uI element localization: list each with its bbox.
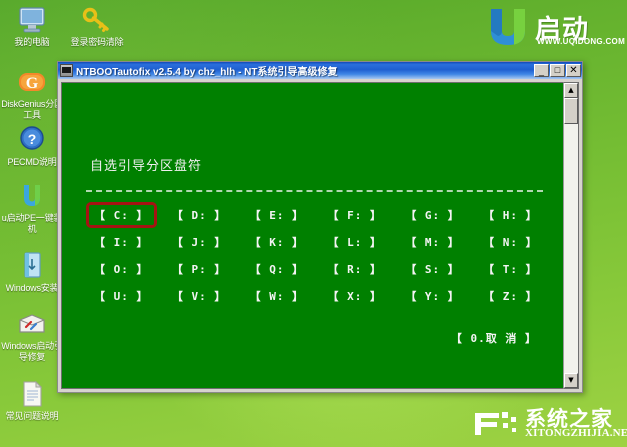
maximize-button[interactable]: □ — [550, 64, 565, 77]
window-body: 自选引导分区盘符 【 C: 】 【 D: 】 【 E: 】 【 F: 】 【 G… — [58, 79, 582, 392]
watermark-url: XITONGZHIJIA.NET — [525, 427, 627, 439]
desktop-icon-pecmd-help[interactable]: ? PECMD说明 — [0, 124, 64, 168]
svg-text:G: G — [26, 75, 39, 92]
drive-option-x[interactable]: 【 X: 】 — [319, 283, 390, 309]
drive-row: 【 C: 】 【 D: 】 【 E: 】 【 F: 】 【 G: 】 【 H: … — [82, 201, 549, 228]
drive-cell: 【 W: 】 — [238, 283, 316, 309]
drive-option-j[interactable]: 【 J: 】 — [164, 229, 235, 255]
drive-row: 【 I: 】 【 J: 】 【 K: 】 【 L: 】 【 M: 】 【 N: … — [82, 228, 549, 255]
drive-row: 【 O: 】 【 P: 】 【 Q: 】 【 R: 】 【 S: 】 【 T: … — [82, 255, 549, 282]
toolbox-icon — [16, 308, 48, 340]
console-heading: 自选引导分区盘符 — [90, 155, 202, 174]
drive-option-m[interactable]: 【 M: 】 — [397, 229, 468, 255]
ntbootautofix-window[interactable]: NTBOOTautofix v2.5.4 by chz_hlh - NT系统引导… — [57, 61, 583, 393]
brand-logo: 启动 WWW.UQIDONG.COM — [481, 3, 621, 51]
drive-option-l[interactable]: 【 L: 】 — [319, 229, 390, 255]
drive-letter-grid: 【 C: 】 【 D: 】 【 E: 】 【 F: 】 【 G: 】 【 H: … — [82, 201, 549, 309]
drive-cell: 【 N: 】 — [471, 229, 549, 255]
drive-cell: 【 X: 】 — [315, 283, 393, 309]
drive-option-p[interactable]: 【 P: 】 — [164, 256, 235, 282]
drive-cell: 【 H: 】 — [471, 202, 549, 228]
brand-url: WWW.UQIDONG.COM — [537, 37, 625, 46]
window-app-icon — [60, 64, 73, 77]
desktop-icon-windows-boot-repair[interactable]: Windows启动引导修复 — [0, 308, 64, 363]
site-watermark: 系统之家 XITONGZHIJIA.NET — [471, 401, 623, 445]
drive-cell: 【 D: 】 — [160, 202, 238, 228]
drive-option-k[interactable]: 【 K: 】 — [242, 229, 313, 255]
section-divider — [86, 190, 543, 193]
drive-option-c[interactable]: 【 C: 】 — [86, 202, 157, 228]
drive-cell: 【 S: 】 — [393, 256, 471, 282]
drive-cell: 【 G: 】 — [393, 202, 471, 228]
scroll-down-button[interactable]: ▼ — [564, 373, 578, 388]
drive-option-s[interactable]: 【 S: 】 — [397, 256, 468, 282]
scrollbar-thumb[interactable] — [564, 98, 578, 124]
drive-cell: 【 E: 】 — [238, 202, 316, 228]
drive-option-u[interactable]: 【 U: 】 — [86, 283, 157, 309]
drive-row: 【 U: 】 【 V: 】 【 W: 】 【 X: 】 【 Y: 】 【 Z: … — [82, 282, 549, 309]
desktop-icon-label: 我的电脑 — [0, 37, 64, 48]
drive-cell: 【 I: 】 — [82, 229, 160, 255]
drive-cell: 【 U: 】 — [82, 283, 160, 309]
key-icon — [81, 4, 113, 36]
desktop-icon-uqidong-pe-setup[interactable]: u启动PE一键装机 — [0, 180, 64, 235]
scrollbar-track[interactable] — [564, 98, 578, 373]
desktop-icon-label: PECMD说明 — [0, 157, 64, 168]
maximize-icon: □ — [551, 65, 564, 76]
minimize-button[interactable]: _ — [534, 64, 549, 77]
drive-cell: 【 R: 】 — [315, 256, 393, 282]
drive-cell: 【 F: 】 — [315, 202, 393, 228]
drive-cell: 【 L: 】 — [315, 229, 393, 255]
drive-cell: 【 C: 】 — [82, 202, 160, 228]
desktop-icon-diskgenius[interactable]: G DiskGenius分区工具 — [0, 66, 64, 121]
window-title: NTBOOTautofix v2.5.4 by chz_hlh - NT系统引导… — [76, 63, 534, 78]
cancel-row: 【 0.取 消 】 — [451, 327, 537, 346]
drive-option-y[interactable]: 【 Y: 】 — [397, 283, 468, 309]
desktop-icon-label: 常见问题说明 — [0, 411, 64, 422]
drive-cell: 【 M: 】 — [393, 229, 471, 255]
window-controls: _ □ ✕ — [534, 64, 581, 77]
desktop-icon-label: Windows安装 — [0, 283, 64, 294]
minimize-icon: _ — [535, 66, 548, 77]
drive-option-e[interactable]: 【 E: 】 — [242, 202, 313, 228]
drive-option-g[interactable]: 【 G: 】 — [397, 202, 468, 228]
svg-text:?: ? — [28, 131, 37, 147]
console-screen[interactable]: 自选引导分区盘符 【 C: 】 【 D: 】 【 E: 】 【 F: 】 【 G… — [61, 82, 563, 389]
desktop-icon-label: DiskGenius分区工具 — [0, 99, 64, 121]
drive-cell: 【 Z: 】 — [471, 283, 549, 309]
window-title-bar[interactable]: NTBOOTautofix v2.5.4 by chz_hlh - NT系统引导… — [58, 62, 582, 79]
close-button[interactable]: ✕ — [566, 64, 581, 77]
u-logo-icon — [16, 180, 48, 212]
drive-option-q[interactable]: 【 Q: 】 — [242, 256, 313, 282]
desktop-icon-faq[interactable]: 常见问题说明 — [0, 378, 64, 422]
drive-cell: 【 Q: 】 — [238, 256, 316, 282]
drive-option-i[interactable]: 【 I: 】 — [86, 229, 157, 255]
drive-option-z[interactable]: 【 Z: 】 — [475, 283, 546, 309]
drive-option-t[interactable]: 【 T: 】 — [475, 256, 546, 282]
desktop-icon-label: u启动PE一键装机 — [0, 213, 64, 235]
close-icon: ✕ — [567, 65, 580, 76]
diskgenius-icon: G — [16, 66, 48, 98]
desktop-icon-label: 登录密码清除 — [60, 37, 134, 48]
desktop-icon-my-computer[interactable]: 我的电脑 — [0, 4, 64, 48]
drive-option-d[interactable]: 【 D: 】 — [164, 202, 235, 228]
drive-cell: 【 O: 】 — [82, 256, 160, 282]
scroll-up-button[interactable]: ▲ — [564, 83, 578, 98]
drive-cell: 【 V: 】 — [160, 283, 238, 309]
drive-option-r[interactable]: 【 R: 】 — [319, 256, 390, 282]
drive-cell: 【 K: 】 — [238, 229, 316, 255]
drive-option-o[interactable]: 【 O: 】 — [86, 256, 157, 282]
drive-option-v[interactable]: 【 V: 】 — [164, 283, 235, 309]
drive-cell: 【 P: 】 — [160, 256, 238, 282]
desktop-icon-label: Windows启动引导修复 — [0, 341, 64, 363]
monitor-icon — [16, 4, 48, 36]
document-icon — [16, 378, 48, 410]
desktop: 我的电脑 登录密码清除 G DiskGenius分区 — [0, 0, 627, 447]
drive-cell: 【 J: 】 — [160, 229, 238, 255]
drive-option-f[interactable]: 【 F: 】 — [319, 202, 390, 228]
drive-option-h[interactable]: 【 H: 】 — [475, 202, 546, 228]
drive-cell: 【 Y: 】 — [393, 283, 471, 309]
desktop-icon-password-clear[interactable]: 登录密码清除 — [60, 4, 134, 48]
drive-option-n[interactable]: 【 N: 】 — [475, 229, 546, 255]
drive-cell: 【 T: 】 — [471, 256, 549, 282]
install-icon — [16, 250, 48, 282]
desktop-icon-windows-install[interactable]: Windows安装 — [0, 250, 64, 294]
question-icon: ? — [16, 124, 48, 156]
vertical-scrollbar[interactable]: ▲ ▼ — [563, 82, 579, 389]
cancel-option[interactable]: 【 0.取 消 】 — [451, 332, 537, 345]
drive-option-w[interactable]: 【 W: 】 — [242, 283, 313, 309]
